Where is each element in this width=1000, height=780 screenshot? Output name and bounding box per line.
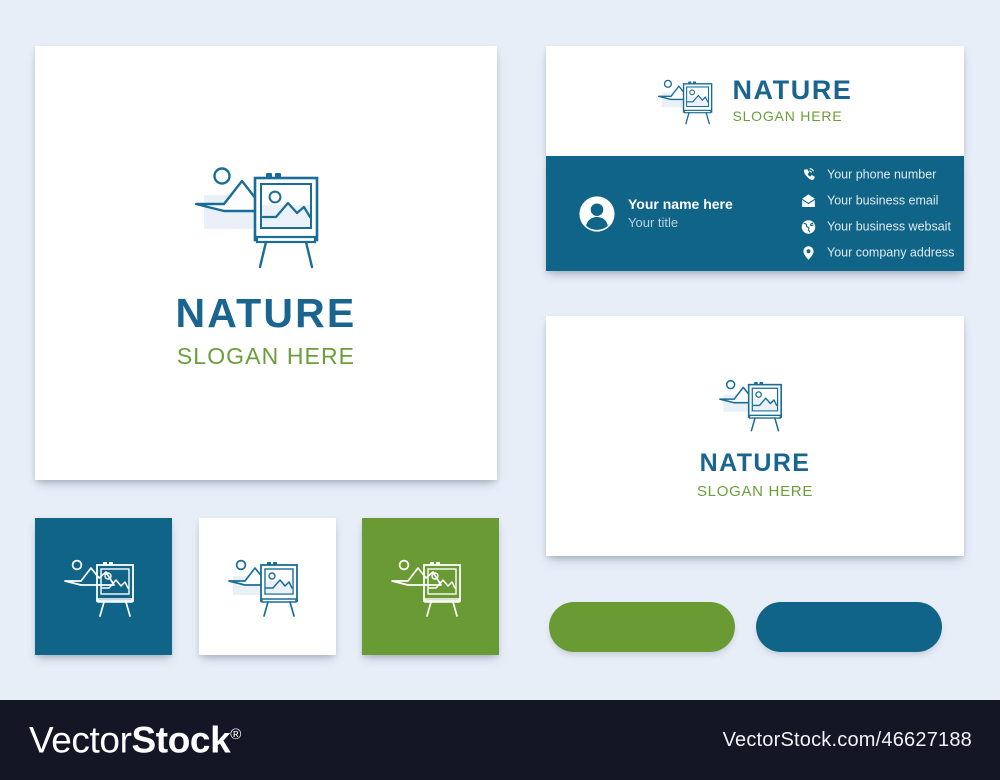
globe-icon [801, 219, 816, 234]
white-swatch[interactable] [199, 518, 336, 655]
envelope-icon [801, 193, 816, 208]
person-name: Your name here [628, 195, 733, 214]
logo-card-wordmark: NATURE [700, 451, 811, 476]
blue-swatch[interactable] [35, 518, 172, 655]
logo-presentation-content: NATURE SLOGAN HERE [546, 316, 964, 556]
easel-landscape-picture-icon [227, 556, 309, 618]
easel-landscape-picture-icon [718, 373, 792, 436]
vectorstock-logo-light: Vector [29, 720, 132, 761]
business-card-slogan: SLOGAN HERE [732, 107, 852, 126]
hero-logo-card: NATURE SLOGAN HERE [35, 46, 497, 480]
hero-wordmark: NATURE [176, 293, 357, 334]
vectorstock-logo: VectorStock® [29, 722, 241, 759]
green-pill-button[interactable] [549, 602, 735, 652]
business-card-back-content: Your name here Your title Your phone num… [546, 156, 964, 271]
contact-list: Your phone number Your business email [801, 167, 954, 260]
contact-row-email: Your business email [801, 193, 954, 208]
easel-landscape-picture-icon [63, 556, 145, 618]
contact-label: Your business websait [827, 220, 951, 233]
phone-icon [801, 167, 816, 182]
location-pin-icon [801, 245, 816, 260]
contact-row-phone: Your phone number [801, 167, 954, 182]
person-block: Your name here Your title [578, 195, 733, 233]
person-title: Your title [628, 214, 733, 232]
contact-label: Your phone number [827, 168, 936, 181]
logo-presentation-card: NATURE SLOGAN HERE [546, 316, 964, 556]
hero-slogan: SLOGAN HERE [177, 345, 355, 368]
contact-row-website: Your business websait [801, 219, 954, 234]
easel-landscape-picture-icon [390, 556, 472, 618]
business-card-front-text: NATURE SLOGAN HERE [732, 76, 852, 125]
business-card-front: NATURE SLOGAN HERE [546, 46, 964, 156]
green-swatch[interactable] [362, 518, 499, 655]
person-avatar-icon [578, 195, 616, 233]
logo-card-slogan: SLOGAN HERE [697, 484, 813, 499]
contact-row-address: Your company address [801, 245, 954, 260]
business-card-wordmark: NATURE [732, 76, 852, 104]
poster-canvas: NATURE SLOGAN HERE [0, 0, 1000, 780]
easel-landscape-picture-icon [190, 159, 342, 271]
business-card-front-content: NATURE SLOGAN HERE [546, 46, 964, 156]
person-text: Your name here Your title [628, 195, 733, 231]
contact-label: Your business email [827, 194, 938, 207]
footer-watermark-bar: VectorStock® VectorStock.com/46627188 [0, 700, 1000, 780]
vectorstock-logo-bold: Stock [132, 720, 231, 761]
contact-label: Your company address [827, 246, 954, 259]
vectorstock-url: VectorStock.com/46627188 [723, 730, 972, 750]
business-card-back: Your name here Your title Your phone num… [546, 156, 964, 271]
hero-card-content: NATURE SLOGAN HERE [35, 46, 497, 480]
registered-mark-icon: ® [230, 726, 241, 743]
easel-landscape-picture-icon [657, 71, 721, 131]
blue-pill-button[interactable] [756, 602, 942, 652]
